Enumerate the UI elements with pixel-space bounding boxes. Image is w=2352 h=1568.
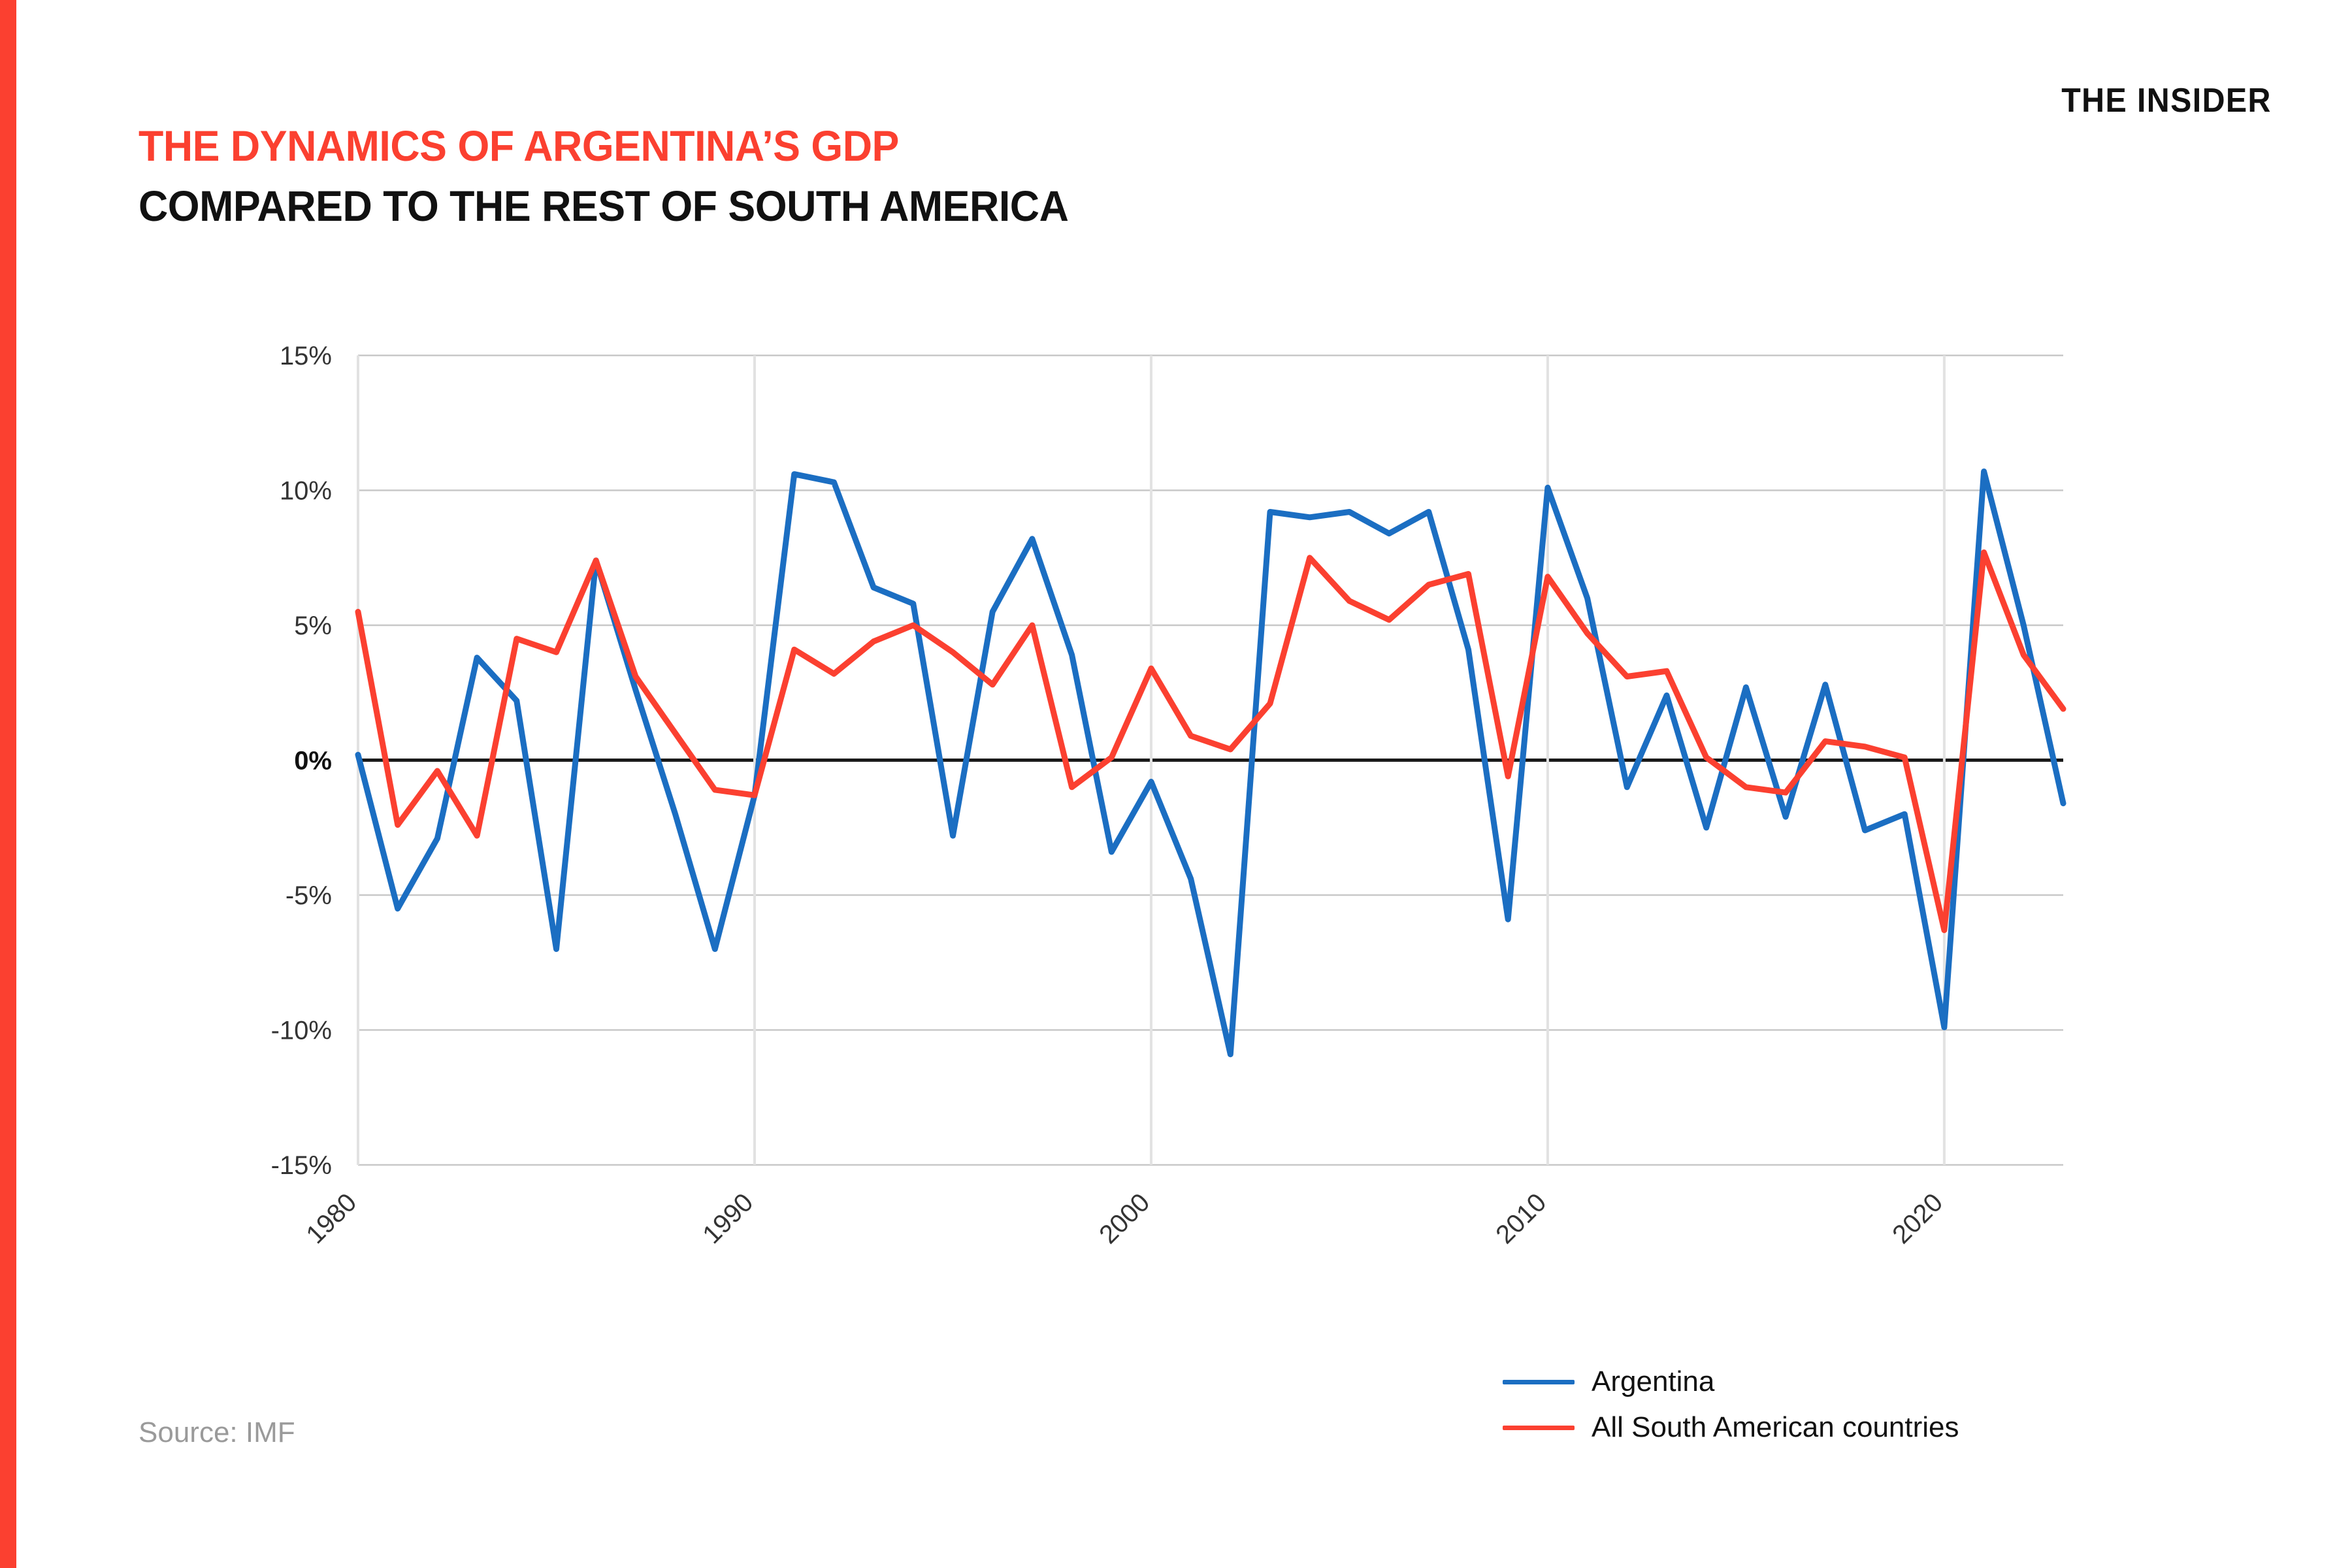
chart-container: 15%10%5%0%-5%-10%-15% 198019902000201020…	[0, 0, 2352, 1568]
y-axis-tick-label: 10%	[280, 477, 332, 506]
y-axis-tick-label: 15%	[280, 342, 332, 370]
x-axis-tick-label: 1980	[301, 1188, 362, 1249]
x-axis-tick-label: 2020	[1887, 1188, 1948, 1249]
legend-swatch-argentina	[1503, 1380, 1575, 1384]
y-axis-labels-group: 15%10%5%0%-5%-10%-15%	[271, 342, 332, 1180]
legend-label-argentina: Argentina	[1592, 1365, 1714, 1398]
legend-item-south-america: All South American countries	[1503, 1405, 1959, 1450]
chart-legend: Argentina All South American countries	[1503, 1359, 1959, 1450]
y-axis-tick-label: 5%	[294, 612, 332, 640]
x-axis-labels-group: 19801990200020102020	[301, 1188, 1948, 1249]
y-axis-tick-label: -5%	[286, 881, 332, 910]
y-axis-tick-label: 0%	[294, 747, 332, 776]
x-axis-tick-label: 2000	[1094, 1188, 1155, 1249]
legend-swatch-south-america	[1503, 1426, 1575, 1430]
x-axis-tick-label: 1990	[697, 1188, 759, 1249]
y-axis-tick-label: -10%	[271, 1017, 332, 1045]
legend-label-south-america: All South American countries	[1592, 1411, 1959, 1444]
series-group	[358, 472, 2063, 1054]
y-axis-tick-label: -15%	[271, 1151, 332, 1180]
source-note: Source: IMF	[139, 1416, 295, 1449]
line-chart: 15%10%5%0%-5%-10%-15% 198019902000201020…	[0, 0, 2352, 1568]
x-axis-tick-label: 2010	[1490, 1188, 1552, 1249]
legend-item-argentina: Argentina	[1503, 1359, 1959, 1405]
